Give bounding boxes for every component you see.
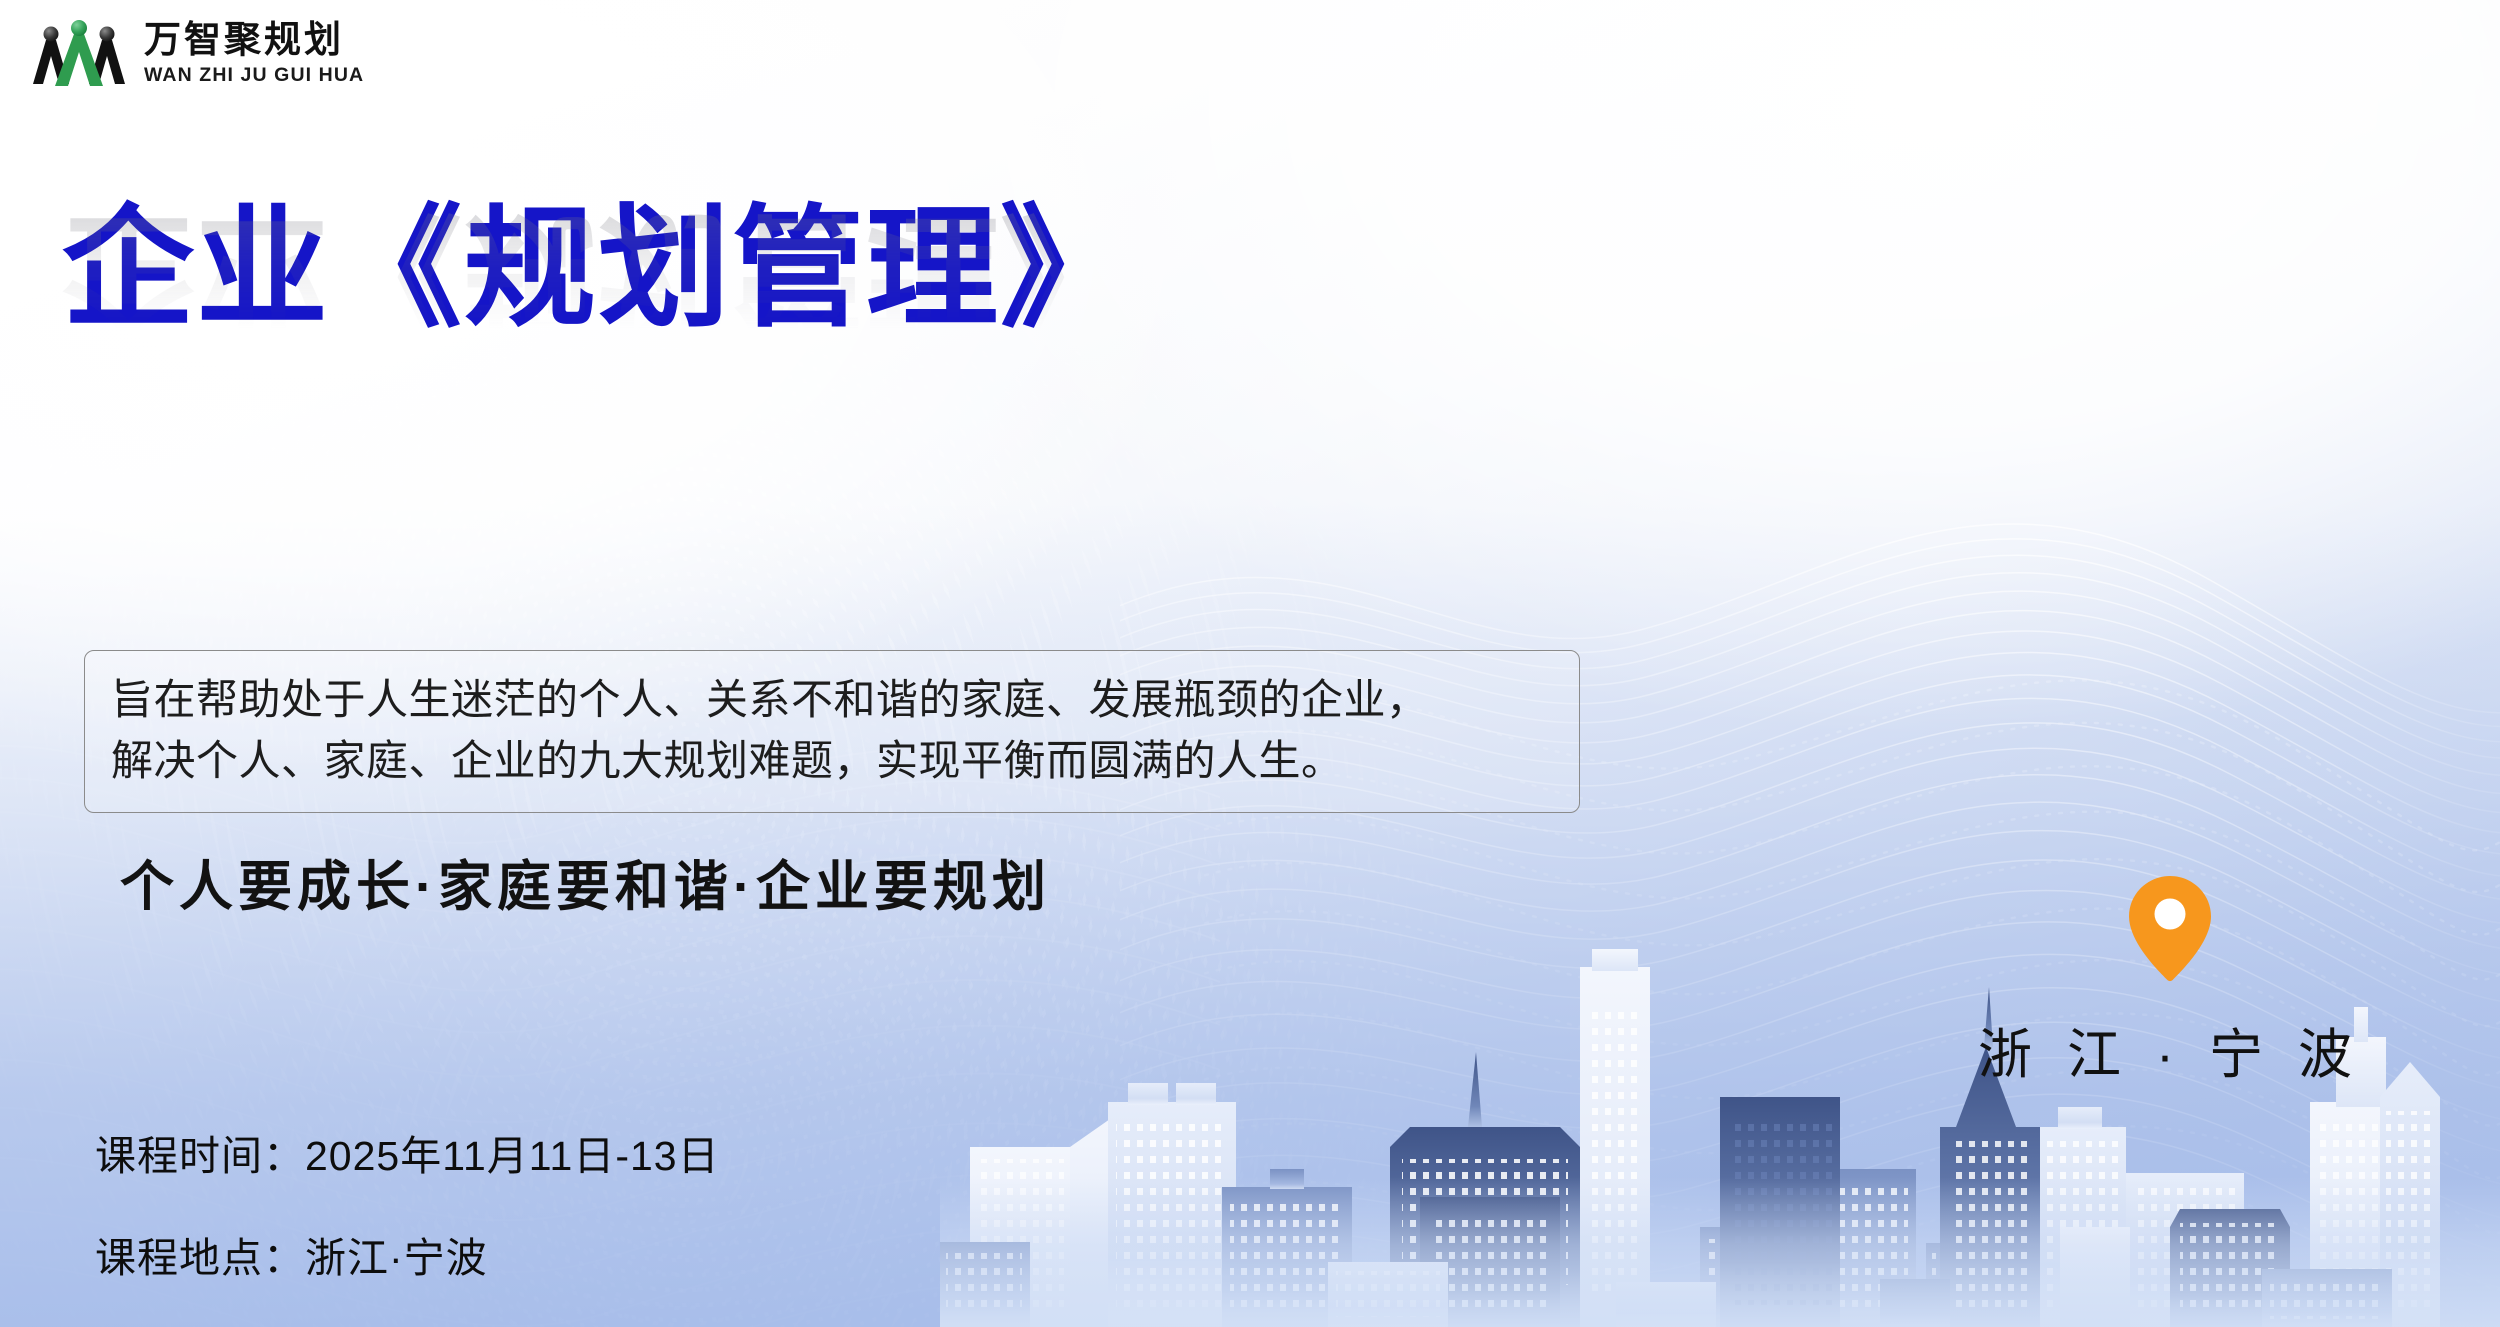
location-block: 浙 江 · 宁 波	[1960, 872, 2380, 1089]
three-people-logo-icon	[32, 18, 126, 90]
brand-name-en: WAN ZHI JU GUI HUA	[144, 66, 364, 86]
description-box: 旨在帮助处于人生迷茫的个人、关系不和谐的家庭、发展瓶颈的企业， 解决个人、家庭、…	[84, 650, 1580, 813]
hero-title-block: 企业《规划管理》 企业《规划管理》	[62, 198, 1462, 481]
description-line-1: 旨在帮助处于人生迷茫的个人、关系不和谐的家庭、发展瓶颈的企业，	[111, 669, 1557, 730]
brand-logo[interactable]: 万智聚规划 WAN ZHI JU GUI HUA	[32, 18, 364, 90]
poster-canvas: 万智聚规划 WAN ZHI JU GUI HUA 企业《规划管理》 企业《规划管…	[0, 0, 2500, 1327]
tagline: 个人要成长·家庭要和谐·企业要规划	[120, 842, 1051, 921]
course-time: 课程时间：2025年11月11日-13日	[95, 1122, 720, 1182]
location-name: 浙 江 · 宁 波	[1960, 1010, 2380, 1089]
brand-name-cn: 万智聚规划	[144, 22, 364, 59]
description-line-2: 解决个人、家庭、企业的九大规划难题，实现平衡而圆满的人生。	[111, 730, 1557, 791]
course-place: 课程地点：浙江·宁波	[95, 1224, 720, 1284]
brand-logo-text: 万智聚规划 WAN ZHI JU GUI HUA	[144, 22, 364, 86]
map-pin-icon	[2126, 872, 2214, 984]
page-title-reflection: 企业《规划管理》	[62, 205, 1462, 343]
course-info-block: 课程时间：2025年11月11日-13日 课程地点：浙江·宁波	[95, 1122, 720, 1284]
